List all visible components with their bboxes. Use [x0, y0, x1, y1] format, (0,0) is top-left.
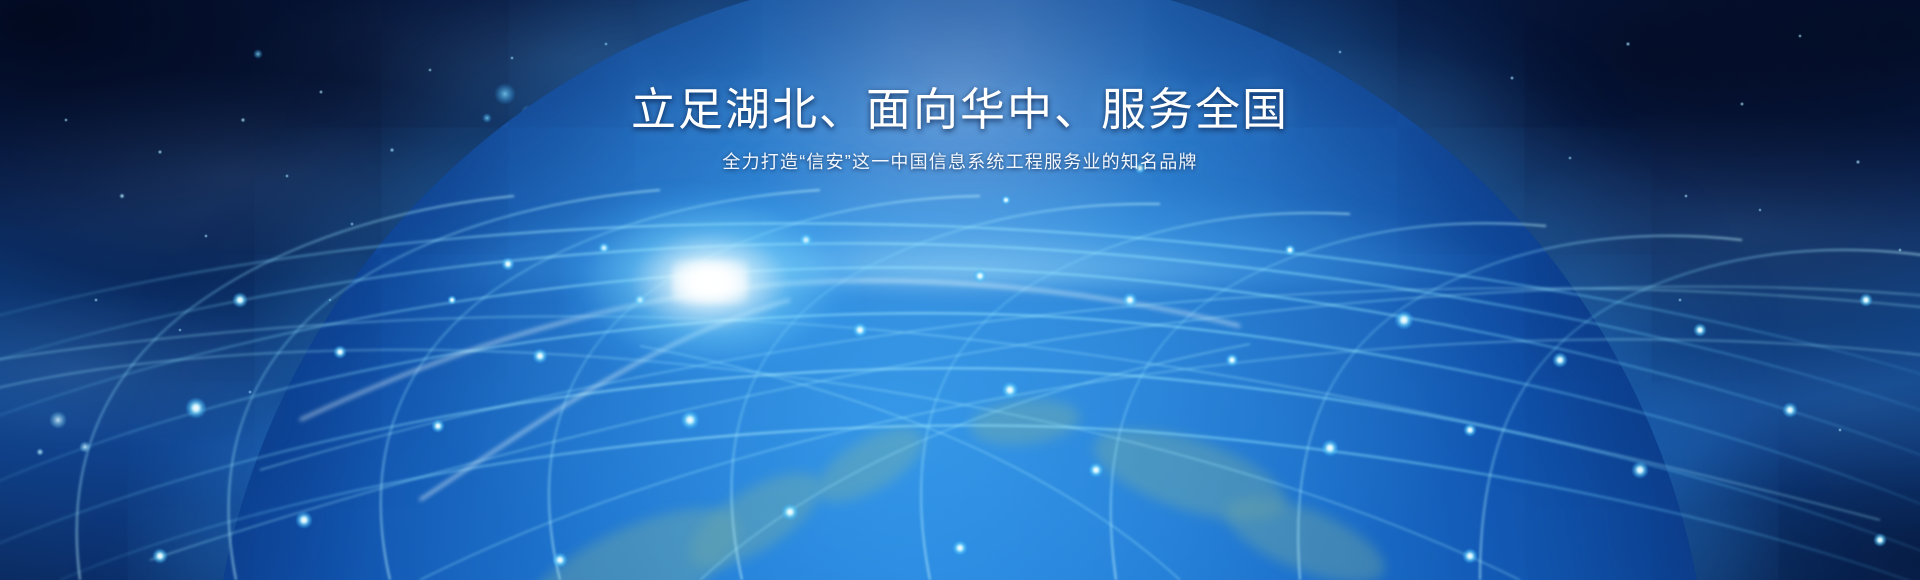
- hero-banner: 立足湖北、面向华中、服务全国 全力打造“信安”这一中国信息系统工程服务业的知名品…: [0, 0, 1920, 580]
- banner-subtitle: 全力打造“信安”这一中国信息系统工程服务业的知名品牌: [0, 147, 1920, 177]
- banner-title: 立足湖北、面向华中、服务全国: [0, 82, 1920, 138]
- center-light-burst: [710, 282, 712, 284]
